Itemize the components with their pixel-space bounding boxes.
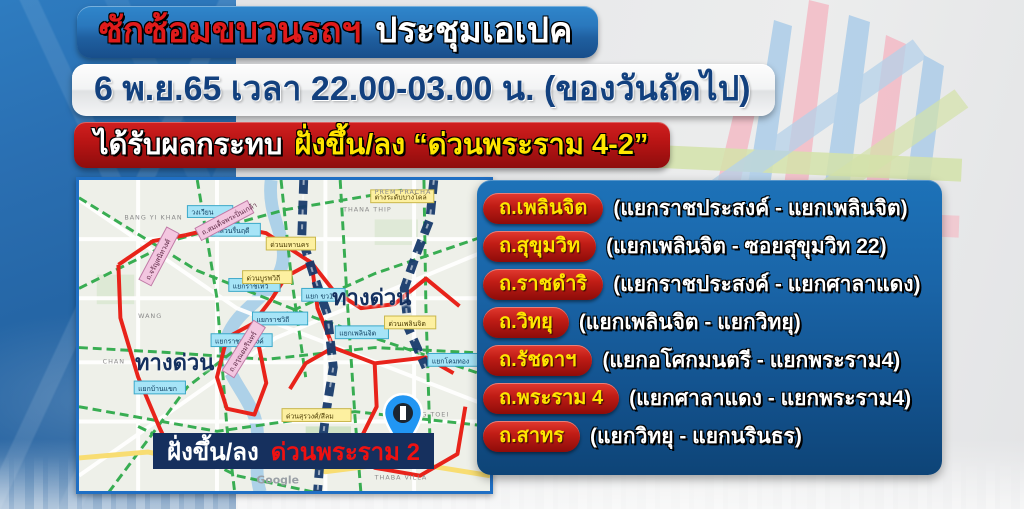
- svg-text:BANG YI KHAN: BANG YI KHAN: [124, 213, 182, 221]
- datetime-text: 6 พ.ย.65 เวลา 22.00-03.00 น. (ของวันถัดไ…: [94, 61, 751, 115]
- expressway-label-1: ทางด่วน: [332, 280, 411, 315]
- affected-road-row[interactable]: ถ.ราชดำริ (แยกราชประสงค์ - แยกศาลาแดง): [477, 265, 942, 303]
- map-card[interactable]: แยกสวนรื่นฤดี แยกราชเทวี แยก ขว1. แยกราช…: [76, 177, 493, 494]
- road-detail: (แยกวิทยุ - แยกนรินธร): [590, 420, 802, 453]
- road-detail: (แยกราชประสงค์ - แยกเพลินจิต): [613, 192, 907, 225]
- road-badge[interactable]: ถ.สุขุมวิท: [483, 231, 596, 262]
- road-detail: (แยกศาลาแดง - แยกพระราม4): [629, 382, 911, 415]
- svg-text:THABA VILLA: THABA VILLA: [374, 474, 428, 482]
- road-badge[interactable]: ถ.รัชดาฯ: [483, 345, 592, 376]
- google-attribution: Google: [256, 474, 299, 487]
- svg-text:WANG: WANG: [138, 312, 162, 320]
- map-overlay-route: ด่วนพระราม 2: [271, 432, 420, 471]
- affected-road-row[interactable]: ถ.รัชดาฯ (แยกอโศกมนตรี - แยกพระราม4): [477, 341, 942, 379]
- headline-bar-datetime: 6 พ.ย.65 เวลา 22.00-03.00 น. (ของวันถัดไ…: [72, 64, 775, 116]
- road-badge[interactable]: ถ.เพลินจิต: [483, 193, 603, 224]
- svg-text:แยกเพลินจิต: แยกเพลินจิต: [339, 330, 376, 338]
- affected-road-row[interactable]: ถ.พระราม 4 (แยกศาลาแดง - แยกพระราม4): [477, 379, 942, 417]
- headline-red-text: ซักซ้อมขบวนรถฯ: [99, 3, 361, 58]
- impact-highlight: ฝั่งขึ้น/ลง “ด่วนพระราม 4-2”: [294, 121, 648, 167]
- headline-white-text: ประชุมเอเปค: [375, 3, 572, 58]
- affected-roads-panel: ถ.เพลินจิต (แยกราชประสงค์ - แยกเพลินจิต)…: [477, 180, 942, 475]
- svg-text:PREM PRACHA: PREM PRACHA: [375, 188, 432, 196]
- affected-road-row[interactable]: ถ.เพลินจิต (แยกราชประสงค์ - แยกเพลินจิต): [477, 189, 942, 227]
- road-detail: (แยกอโศกมนตรี - แยกพระราม4): [602, 344, 900, 377]
- svg-text:THANA THIP: THANA THIP: [342, 206, 392, 214]
- affected-road-row[interactable]: ถ.วิทยุ (แยกเพลินจิต - แยกวิทยุ): [477, 303, 942, 341]
- map-overlay-bar: ฝั่งขึ้น/ลง ด่วนพระราม 2: [153, 433, 434, 469]
- affected-road-row[interactable]: ถ.สุขุมวิท (แยกเพลินจิต - ซอยสุขุมวิท 22…: [477, 227, 942, 265]
- road-detail: (แยกราชประสงค์ - แยกศาลาแดง): [613, 268, 920, 301]
- road-detail: (แยกเพลินจิต - ซอยสุขุมวิท 22): [606, 230, 886, 263]
- svg-text:แยกบ้านแขก: แยกบ้านแขก: [138, 385, 177, 393]
- svg-text:CHAN: CHAN: [103, 357, 125, 365]
- road-badge[interactable]: ถ.สาทร: [483, 421, 580, 452]
- road-badge[interactable]: ถ.พระราม 4: [483, 383, 619, 414]
- road-badge[interactable]: ถ.วิทยุ: [483, 307, 569, 338]
- affected-road-row[interactable]: ถ.สาทร (แยกวิทยุ - แยกนรินธร): [477, 417, 942, 455]
- svg-text:วงเวียน: วงเวียน: [191, 209, 213, 217]
- headline-bar-primary: ซักซ้อมขบวนรถฯ ประชุมเอเปค: [77, 6, 598, 58]
- svg-text:ด่วนเพลินจิต: ด่วนเพลินจิต: [388, 320, 425, 328]
- expressway-label-2: ทางด่วน: [135, 345, 214, 380]
- road-badge[interactable]: ถ.ราชดำริ: [483, 269, 603, 300]
- svg-text:แยกโคมทอง: แยกโคมทอง: [432, 356, 469, 365]
- svg-text:ด่วนสุรวงศ์/สีลม: ด่วนสุรวงศ์/สีลม: [286, 413, 334, 421]
- road-detail: (แยกเพลินจิต - แยกวิทยุ): [579, 306, 801, 339]
- impact-label: ได้รับผลกระทบ: [94, 121, 282, 167]
- map-overlay-direction: ฝั่งขึ้น/ลง: [167, 432, 259, 471]
- svg-text:ด่วนบูรพวิถี: ด่วนบูรพวิถี: [247, 275, 281, 283]
- svg-text:แยกราชวิถี: แยกราชวิถี: [256, 316, 289, 324]
- svg-text:ด่วนมหานคร: ด่วนมหานคร: [270, 241, 309, 249]
- headline-bar-impact: ได้รับผลกระทบ ฝั่งขึ้น/ลง “ด่วนพระราม 4-…: [74, 122, 670, 168]
